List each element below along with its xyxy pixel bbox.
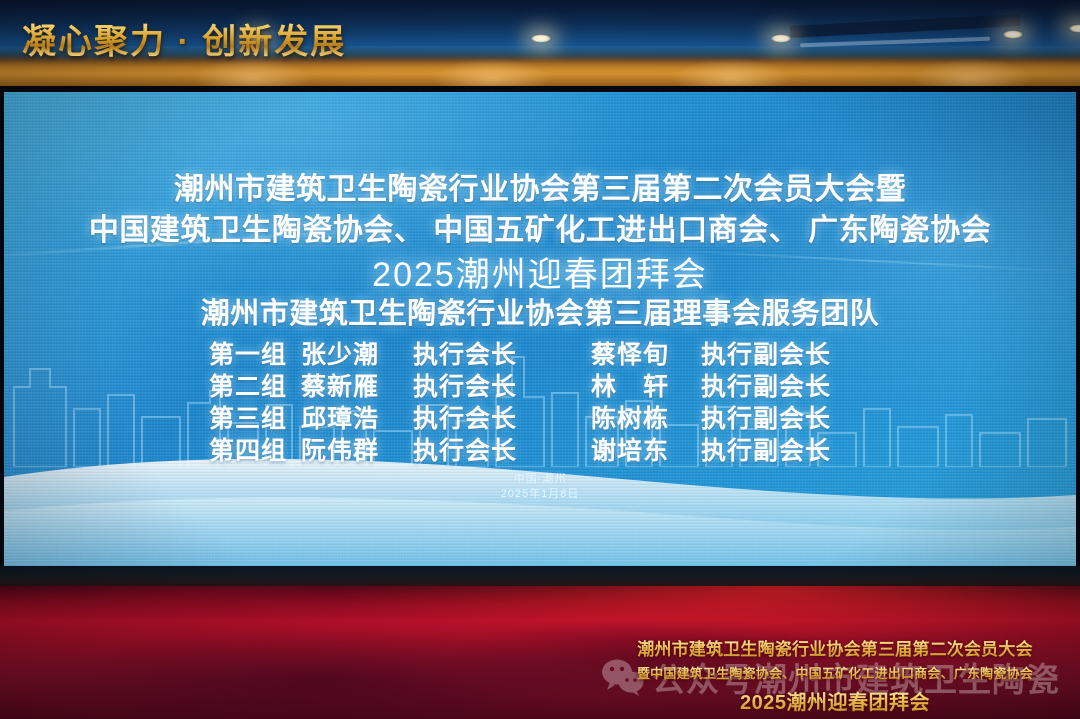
roster-name-right: 谢培东 — [591, 431, 701, 467]
caption-line-2: 暨中国建筑卫生陶瓷协会、中国五矿化工进出口商会、广东陶瓷协会 — [600, 663, 1070, 682]
roster-group-label: 第一组 — [209, 335, 301, 371]
service-team-subtitle: 潮州市建筑卫生陶瓷行业协会第三届理事会服务团队 — [4, 290, 1076, 332]
roster-name-left: 邱璋浩 — [301, 399, 413, 435]
conference-stage-photo: 凝心聚力 · 创新发展 — [0, 0, 1080, 719]
roster-title-left: 执行会长 — [413, 431, 543, 467]
roster-row: 第三组 邱璋浩 执行会长 陈树栋 执行副会长 — [4, 399, 1076, 431]
roster-name-right: 蔡怿旬 — [591, 335, 701, 371]
roster-row: 第一组 张少潮 执行会长 蔡怿旬 执行副会长 — [4, 335, 1076, 367]
screen-content: 潮州市建筑卫生陶瓷行业协会第三届第二次会员大会暨 中国建筑卫生陶瓷协会、 中国五… — [4, 92, 1076, 575]
event-title-line-3: 2025潮州迎春团拜会 — [4, 247, 1076, 296]
event-title-line-1: 潮州市建筑卫生陶瓷行业协会第三届第二次会员大会暨 — [4, 164, 1076, 208]
roster-group-label: 第四组 — [209, 431, 301, 467]
roster-title-right: 执行副会长 — [701, 367, 871, 403]
service-team-roster: 第一组 张少潮 执行会长 蔡怿旬 执行副会长 第二组 蔡新雁 执行会长 林 轩 … — [4, 335, 1076, 463]
ceiling-spotlight — [530, 34, 552, 43]
roster-name-left: 张少潮 — [301, 335, 413, 371]
led-screen-frame: 潮州市建筑卫生陶瓷行业协会第三届第二次会员大会暨 中国建筑卫生陶瓷协会、 中国五… — [0, 86, 1080, 586]
roster-name-left: 阮伟群 — [301, 431, 413, 467]
ceiling-spotlight — [770, 34, 792, 43]
stage-slogan-banner: 凝心聚力 · 创新发展 — [22, 14, 346, 63]
roster-row: 第四组 阮伟群 执行会长 谢培东 执行副会长 — [4, 431, 1076, 463]
roster-group-label: 第二组 — [209, 367, 301, 403]
roster-name-right: 林 轩 — [591, 367, 701, 403]
roster-title-left: 执行会长 — [413, 335, 543, 371]
roster-title-right: 执行副会长 — [701, 335, 871, 371]
roster-name-right: 陈树栋 — [591, 399, 701, 435]
ceiling-spotlight — [1002, 30, 1024, 39]
roster-row: 第二组 蔡新雁 执行会长 林 轩 执行副会长 — [4, 367, 1076, 399]
roster-title-right: 执行副会长 — [701, 399, 871, 435]
caption-line-3: 2025潮州迎春团拜会 — [600, 686, 1070, 715]
roster-title-right: 执行副会长 — [701, 431, 871, 467]
caption-line-1: 潮州市建筑卫生陶瓷行业协会第三届第二次会员大会 — [600, 635, 1070, 660]
roster-title-left: 执行会长 — [413, 367, 543, 403]
roster-name-left: 蔡新雁 — [301, 367, 413, 403]
event-title-line-2: 中国建筑卫生陶瓷协会、 中国五矿化工进出口商会、 广东陶瓷协会 — [4, 205, 1076, 249]
roster-title-left: 执行会长 — [413, 399, 543, 435]
video-caption-overlay: 潮州市建筑卫生陶瓷行业协会第三届第二次会员大会 暨中国建筑卫生陶瓷协会、中国五矿… — [600, 635, 1070, 715]
footer-location: 中国·潮州 — [4, 472, 1076, 487]
roster-group-label: 第三组 — [209, 399, 301, 435]
led-screen: 潮州市建筑卫生陶瓷行业协会第三届第二次会员大会暨 中国建筑卫生陶瓷协会、 中国五… — [4, 92, 1076, 575]
screen-footer: 中国·潮州 2025年1月8日 — [4, 472, 1076, 502]
footer-date: 2025年1月8日 — [4, 487, 1076, 502]
